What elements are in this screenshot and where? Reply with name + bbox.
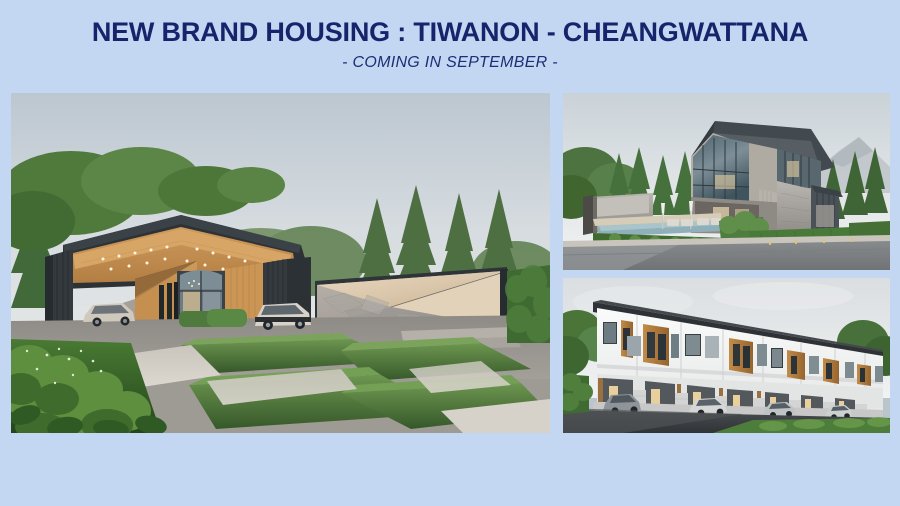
page-subtitle: - COMING IN SEPTEMBER - [0,46,900,72]
townhouse-image [563,278,890,433]
clubhouse-rendering [11,93,550,433]
page-title: NEW BRAND HOUSING : TIWANON - CHEANGWATT… [0,0,900,46]
presentation-slide: NEW BRAND HOUSING : TIWANON - CHEANGWATT… [0,0,900,506]
title-block: NEW BRAND HOUSING : TIWANON - CHEANGWATT… [0,0,900,72]
villa-rendering [563,93,890,270]
villa-image [563,93,890,270]
main-project-image [11,93,550,433]
townhouse-rendering [563,278,890,433]
